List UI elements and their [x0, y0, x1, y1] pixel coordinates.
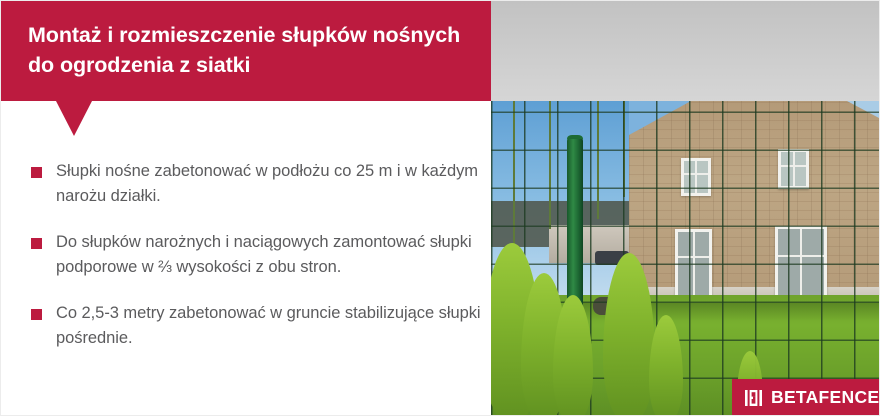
- instruction-list: Słupki nośne zabetonować w podłożu co 25…: [1, 159, 481, 372]
- list-item-text: Słupki nośne zabetonować w podłożu co 25…: [56, 159, 481, 209]
- title-banner: Montaż i rozmieszczenie słupków nośnych …: [1, 1, 491, 101]
- bullet-square-icon: [31, 238, 42, 249]
- list-item: Słupki nośne zabetonować w podłożu co 25…: [1, 159, 481, 209]
- infographic-slide: Montaż i rozmieszczenie słupków nośnych …: [0, 0, 880, 416]
- list-item: Do słupków narożnych i naciągowych zamon…: [1, 230, 481, 280]
- list-item-text: Do słupków narożnych i naciągowych zamon…: [56, 230, 481, 280]
- fence-installation-photo: BETAFENCE: [491, 101, 880, 416]
- bullet-square-icon: [31, 167, 42, 178]
- bullet-square-icon: [31, 309, 42, 320]
- photo-top-gray-band: [491, 1, 880, 103]
- brand-name: BETAFENCE: [771, 389, 879, 407]
- text-column: Montaż i rozmieszczenie słupków nośnych …: [1, 1, 491, 416]
- photo-column: BETAFENCE: [491, 1, 880, 416]
- banner-pointer-triangle: [56, 101, 92, 136]
- betafence-b-mark-icon: [745, 390, 762, 406]
- brand-badge: BETAFENCE: [732, 379, 880, 416]
- page-title: Montaż i rozmieszczenie słupków nośnych …: [28, 20, 468, 80]
- list-item-text: Co 2,5-3 metry zabetonować w gruncie sta…: [56, 301, 481, 351]
- list-item: Co 2,5-3 metry zabetonować w gruncie sta…: [1, 301, 481, 351]
